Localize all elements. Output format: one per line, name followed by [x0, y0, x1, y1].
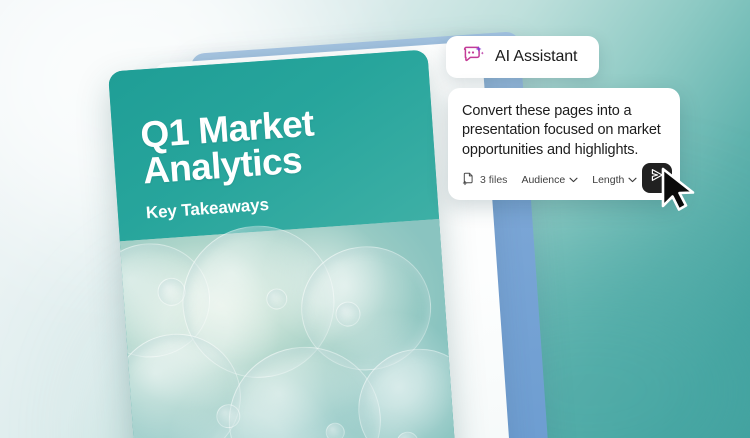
document-card-stack: Q1 Market Analytics Key Takeaways: [0, 0, 750, 438]
chevron-down-icon: [569, 174, 578, 186]
ai-prompt-card[interactable]: Convert these pages into a presentation …: [448, 88, 680, 200]
ai-assistant-button[interactable]: AI Assistant: [446, 36, 599, 78]
attached-files-label: 3 files: [480, 174, 507, 186]
cover-photo: [120, 219, 460, 438]
cover-text-block: Q1 Market Analytics Key Takeaways: [139, 99, 416, 223]
document-card-front[interactable]: Q1 Market Analytics Key Takeaways: [108, 49, 460, 438]
attached-files-button[interactable]: 3 files: [462, 172, 507, 189]
audience-dropdown[interactable]: Audience: [521, 174, 578, 186]
send-icon: [649, 167, 665, 188]
page-title: Q1 Market Analytics: [139, 99, 413, 190]
prompt-text[interactable]: Convert these pages into a presentation …: [462, 102, 666, 160]
send-button[interactable]: [642, 163, 672, 193]
prompt-toolbar: 3 files Audience Length: [462, 172, 666, 189]
chevron-down-icon: [628, 174, 637, 186]
ai-chat-sparkle-icon: [463, 45, 484, 70]
add-file-icon: [462, 172, 475, 189]
audience-dropdown-label: Audience: [521, 174, 565, 186]
length-dropdown[interactable]: Length: [592, 174, 637, 186]
screenshot-canvas: Q1 Market Analytics Key Takeaways: [0, 0, 750, 438]
length-dropdown-label: Length: [592, 174, 624, 186]
ai-assistant-label: AI Assistant: [495, 48, 577, 66]
